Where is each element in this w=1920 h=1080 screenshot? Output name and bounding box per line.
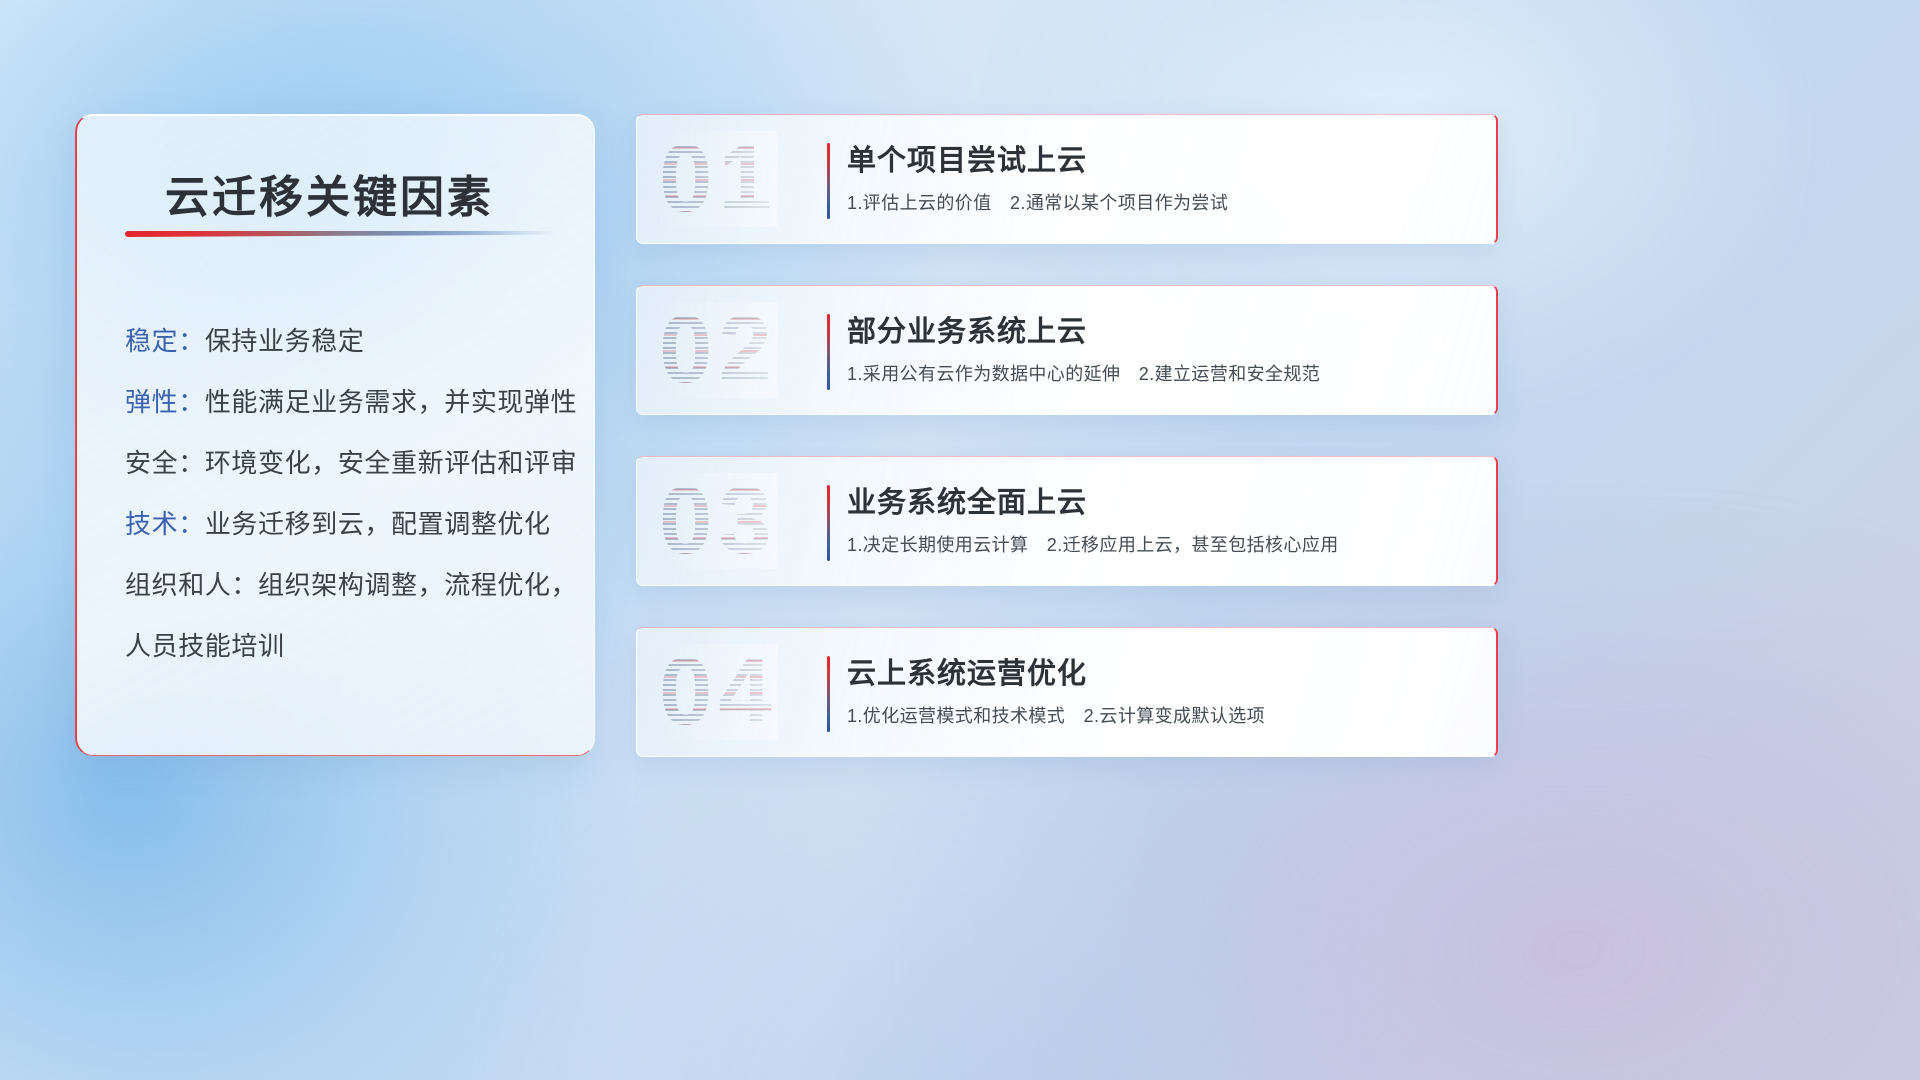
title-underline-gradient <box>125 231 557 237</box>
list-item-label: 安全： <box>125 448 205 478</box>
slide-stage: 云迁移关键因素 稳定：保持业务稳定 弹性：性能满足业务需求，并实现弹性 安全：环… <box>0 0 1920 1080</box>
step-description: 1.评估上云的价值 2.通常以某个项目作为尝试 <box>847 190 1480 216</box>
list-item: 技术：业务迁移到云，配置调整优化 <box>125 494 570 555</box>
page-title: 云迁移关键因素 <box>165 161 494 225</box>
key-factors-list: 稳定：保持业务稳定 弹性：性能满足业务需求，并实现弹性 安全：环境变化，安全重新… <box>125 311 570 677</box>
key-factors-panel: 云迁移关键因素 稳定：保持业务稳定 弹性：性能满足业务需求，并实现弹性 安全：环… <box>75 114 595 756</box>
accent-divider-bar <box>827 314 830 390</box>
step-card-04[interactable]: 04 04 云上系统运营优化 1.优化运营模式和技术模式 2.云计算变成默认选项 <box>636 627 1498 757</box>
list-item: 组织和人：组织架构调整，流程优化， <box>125 555 570 616</box>
step-title: 部分业务系统上云 <box>847 312 1480 352</box>
list-item-label: 稳定： <box>125 326 205 356</box>
step-card-02[interactable]: 02 02 部分业务系统上云 1.采用公有云作为数据中心的延伸 2.建立运营和安… <box>636 285 1498 415</box>
step-number-ghost-tint: 04 <box>659 644 778 740</box>
list-item: 稳定：保持业务稳定 <box>125 311 570 372</box>
list-item: 弹性：性能满足业务需求，并实现弹性 <box>125 372 570 433</box>
list-item-text: 组织架构调整，流程优化， <box>258 570 577 600</box>
step-description: 1.决定长期使用云计算 2.迁移应用上云，甚至包括核心应用 <box>847 532 1480 558</box>
accent-divider-bar <box>827 656 830 732</box>
list-item-label: 弹性： <box>125 387 205 417</box>
list-item-text: 保持业务稳定 <box>205 326 365 356</box>
accent-divider-bar <box>827 143 830 219</box>
step-description: 1.采用公有云作为数据中心的延伸 2.建立运营和安全规范 <box>847 361 1480 387</box>
list-item: 安全：环境变化，安全重新评估和评审 <box>125 433 570 494</box>
list-item-text: 人员技能培训 <box>125 631 285 661</box>
step-title: 单个项目尝试上云 <box>847 141 1480 181</box>
accent-divider-bar <box>827 485 830 561</box>
step-title: 业务系统全面上云 <box>847 483 1480 523</box>
step-description: 1.优化运营模式和技术模式 2.云计算变成默认选项 <box>847 703 1480 729</box>
list-item-text: 业务迁移到云，配置调整优化 <box>205 509 551 539</box>
list-item: 人员技能培训 <box>125 616 570 677</box>
step-card-01[interactable]: 01 01 单个项目尝试上云 1.评估上云的价值 2.通常以某个项目作为尝试 <box>636 114 1498 244</box>
list-item-label: 技术： <box>125 509 205 539</box>
list-item-text: 性能满足业务需求，并实现弹性 <box>205 387 577 417</box>
step-card-03[interactable]: 03 03 业务系统全面上云 1.决定长期使用云计算 2.迁移应用上云，甚至包括… <box>636 456 1498 586</box>
step-number-ghost-tint: 03 <box>659 473 778 569</box>
list-item-text: 环境变化，安全重新评估和评审 <box>205 448 577 478</box>
list-item-label: 组织和人： <box>125 570 258 600</box>
step-number-ghost-tint: 02 <box>659 302 778 398</box>
step-number-ghost-tint: 01 <box>659 131 778 227</box>
step-title: 云上系统运营优化 <box>847 654 1480 694</box>
